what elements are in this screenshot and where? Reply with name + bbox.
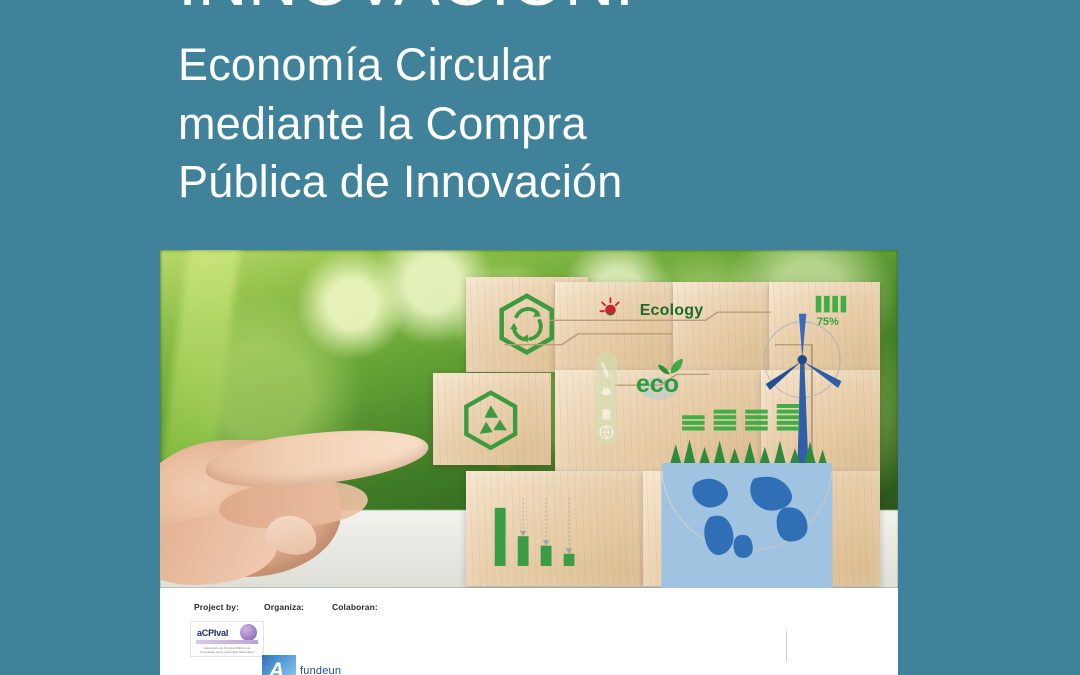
sun-icon xyxy=(592,297,629,321)
acpival-wordmark: aCPIval xyxy=(197,628,228,638)
label-colaboran: Colaboran: xyxy=(332,602,378,612)
page-subtitle: Economía Circular mediante la Compra Púb… xyxy=(178,36,938,212)
logo-acpival[interactable]: aCPIval Asociación de Compra Pública de … xyxy=(190,621,264,657)
logo-divider xyxy=(786,631,787,661)
content-card: Ecology 75% xyxy=(160,250,898,675)
logo-fundeun[interactable]: A fundeun Fundación Empresa Universidad … xyxy=(262,655,338,675)
acpival-bar-decor xyxy=(196,640,258,644)
page-title: INNOVACIÓN: xyxy=(178,0,938,18)
fundeun-monogram: A xyxy=(269,660,284,675)
acpival-footnote: Asociación de Compra Pública de Innovaci… xyxy=(196,646,258,654)
poster-heading: INNOVACIÓN: Economía Circular mediante l… xyxy=(178,0,938,212)
sponsor-label-row: Project by: Organiza: Colaboran: xyxy=(176,602,882,615)
subtitle-line-2: mediante la Compra xyxy=(178,95,938,154)
subtitle-line-3: Pública de Innovación xyxy=(178,153,938,212)
sponsor-logo-strip: Project by: Organiza: Colaboran: aCPIval… xyxy=(160,588,898,675)
eco-wordmark: eco xyxy=(636,370,679,399)
label-project-by: Project by: xyxy=(194,602,239,612)
label-organiza: Organiza: xyxy=(264,602,304,612)
eco-checklist-panel-icon xyxy=(588,351,625,446)
sponsor-logos-row: aCPIval Asociación de Compra Pública de … xyxy=(176,619,882,675)
hero-photo: Ecology 75% xyxy=(160,250,898,588)
ecology-label: Ecology xyxy=(640,302,704,320)
bar-chart-icon xyxy=(488,497,584,571)
fundeun-mark-icon: A xyxy=(262,655,296,675)
globe-earth-icon xyxy=(651,463,843,588)
wooden-blocks-group: Ecology 75% xyxy=(160,250,898,588)
fundeun-wordmark: fundeun xyxy=(300,665,341,675)
acpival-sphere-icon xyxy=(240,624,257,641)
subtitle-line-1: Economía Circular xyxy=(178,36,938,95)
